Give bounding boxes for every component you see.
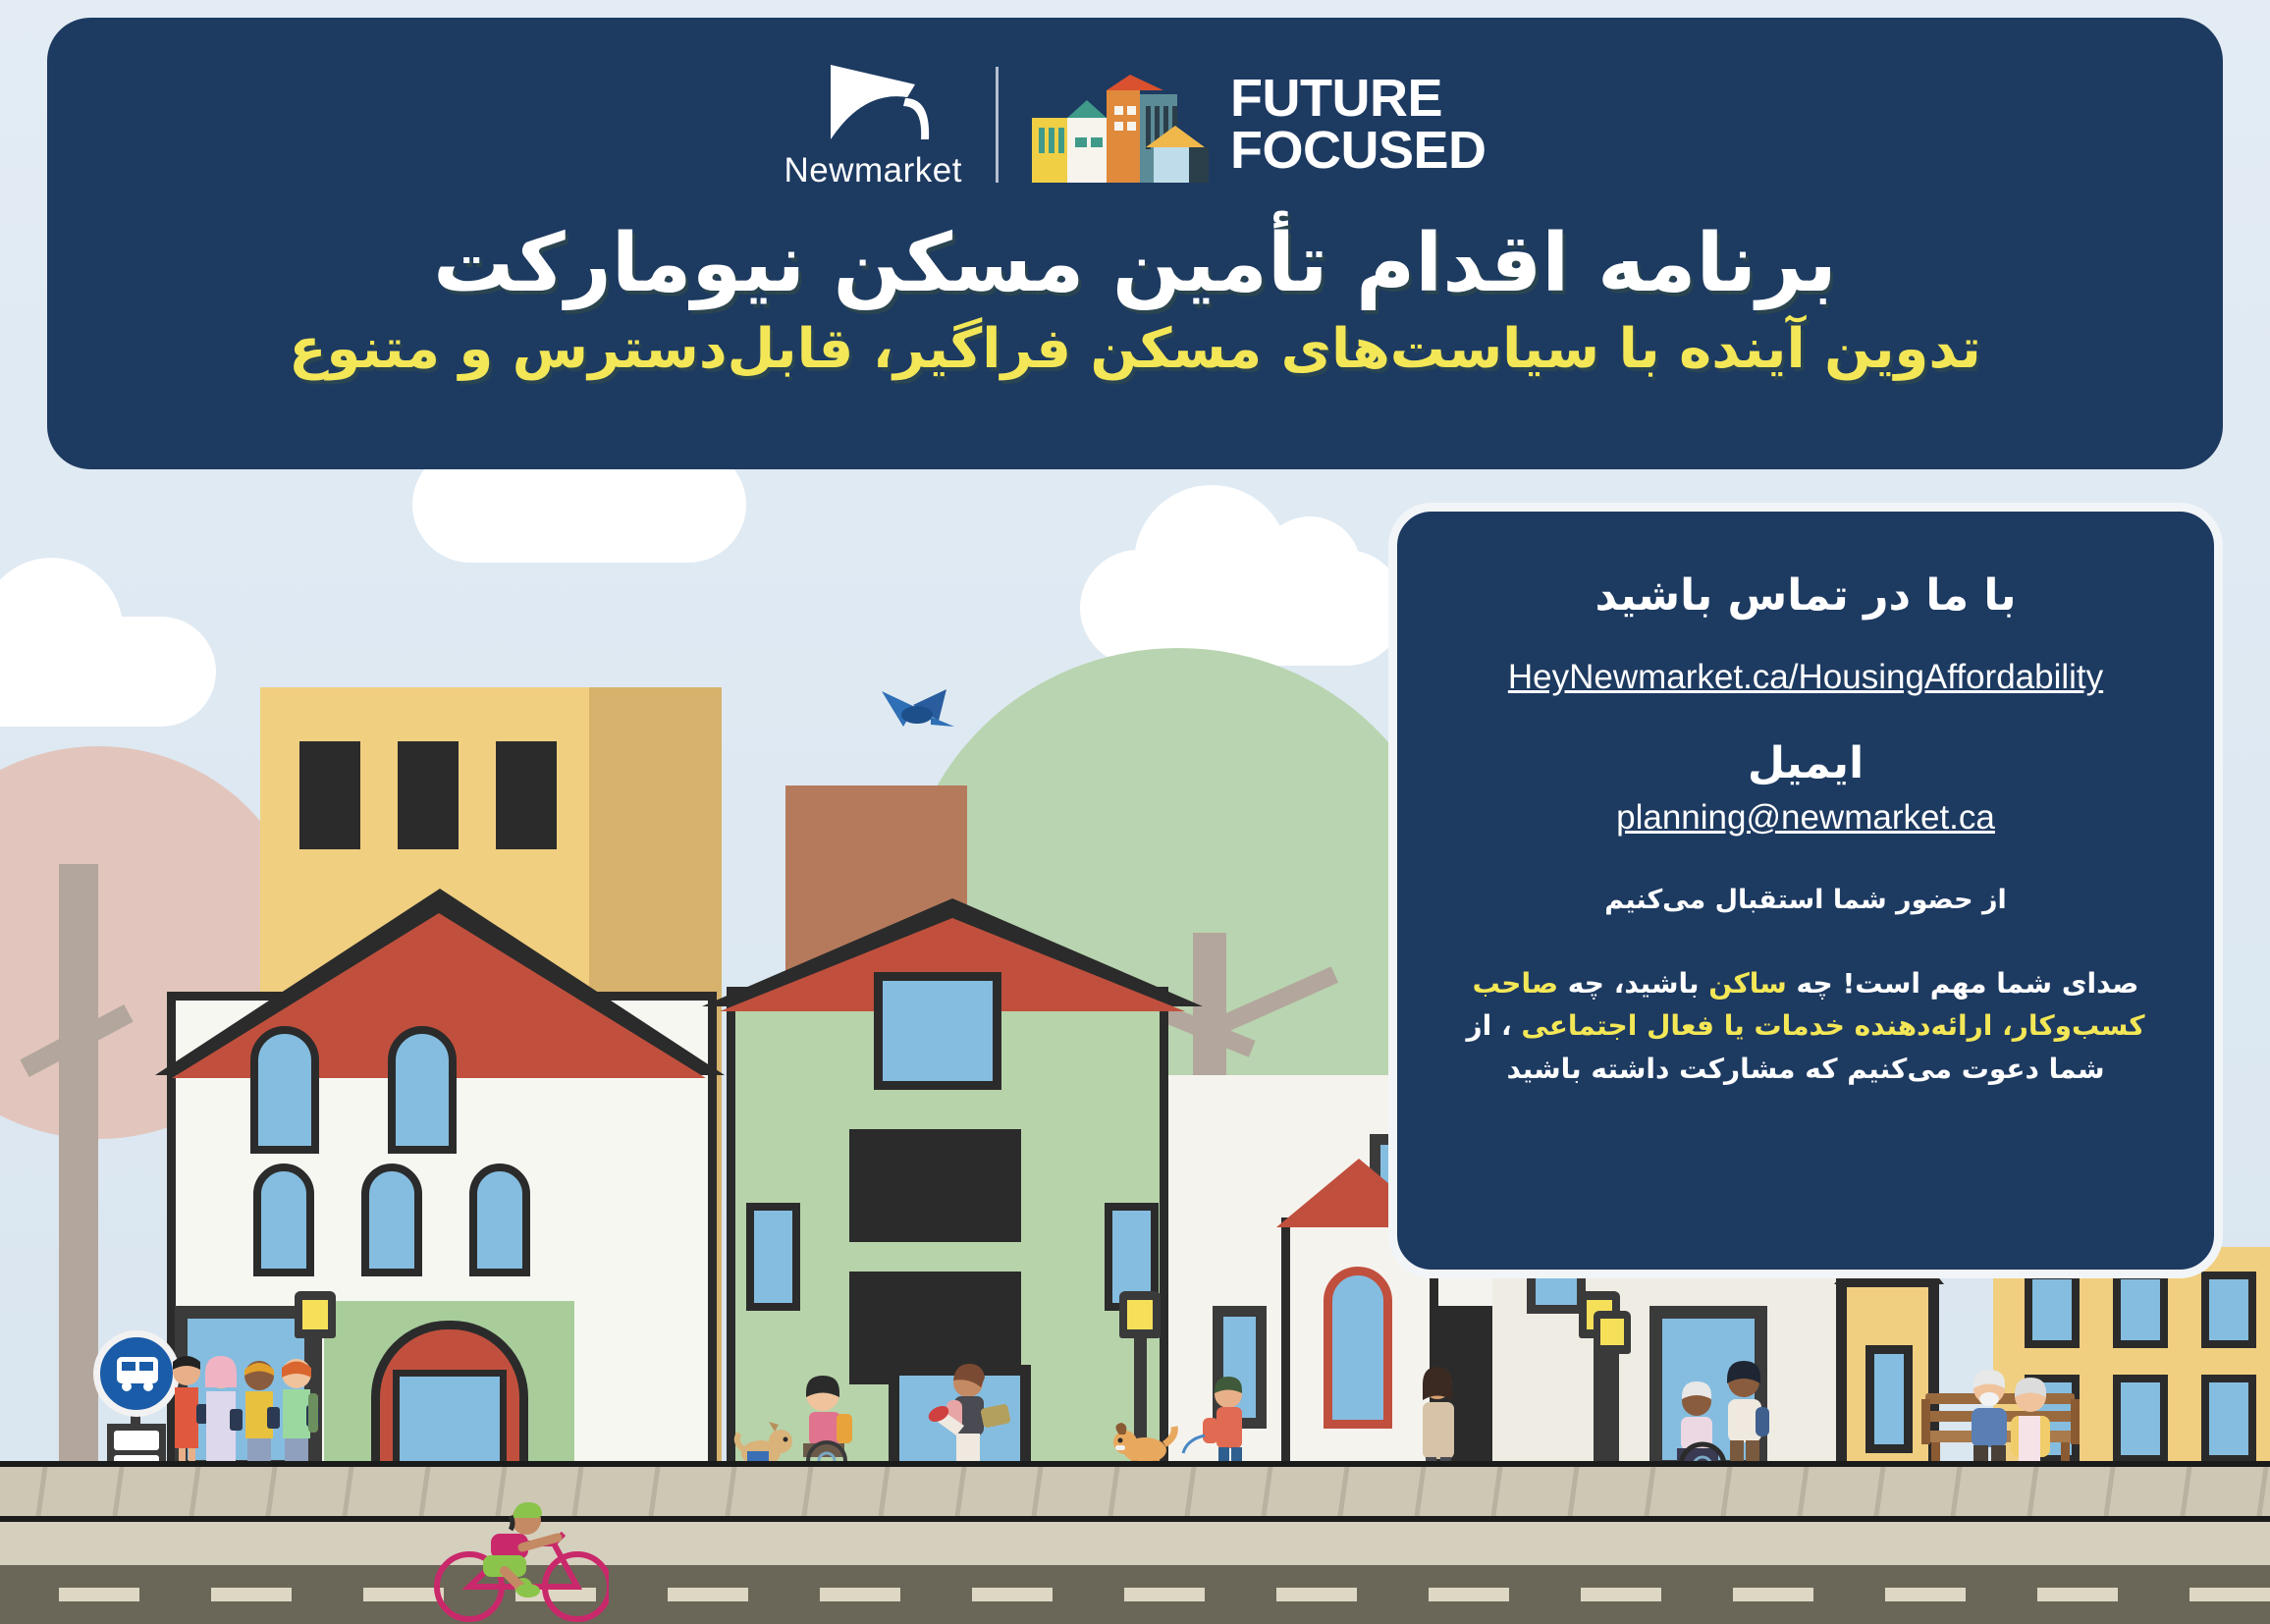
future-focused-line2: FOCUSED [1230, 125, 1486, 177]
invitation-paragraph: صدای شما مهم است! چه ساکن باشید، چه صاحب… [1452, 962, 2159, 1090]
road-dash [2189, 1588, 2270, 1601]
page-title: برنامه اقدام تأمین مسکن نیومارکت [433, 218, 1837, 310]
building-window [361, 1164, 422, 1276]
para-highlight1: ساکن [1708, 967, 1787, 1000]
vertical-divider-icon [996, 67, 999, 183]
road-dash [1733, 1588, 1813, 1601]
road-dash [1429, 1588, 1509, 1601]
building-window [2201, 1272, 2256, 1348]
welcome-text: از حضور شما استقبال می‌کنیم [1452, 885, 2159, 915]
building-window [469, 1164, 530, 1276]
cyclist-icon [432, 1500, 609, 1624]
building-window [746, 1203, 800, 1311]
road-dash [1276, 1588, 1357, 1601]
curb [0, 1522, 2270, 1565]
building-window [1324, 1267, 1392, 1429]
road-dash [211, 1588, 292, 1601]
tree-trunk-icon [59, 864, 98, 1473]
sidewalk [0, 1461, 2270, 1522]
cloud-icon [0, 617, 216, 727]
building-window [849, 1129, 1021, 1242]
road-dash [2037, 1588, 2118, 1601]
road-dash [972, 1588, 1053, 1601]
building-window [2025, 1272, 2080, 1348]
page-subtitle: تدوین آینده با سیاست‌های مسکن فراگیر، قا… [289, 318, 1981, 381]
road-dash [1885, 1588, 1966, 1601]
road-dash [1581, 1588, 1661, 1601]
para-part2: باشید، چه [1558, 967, 1708, 1000]
future-focused-line1: FUTURE [1230, 73, 1486, 125]
storefront-door-glass [393, 1370, 507, 1473]
housing-action-plan-poster: Newmarket [0, 0, 2270, 1624]
contact-heading: با ما در تماس باشید [1452, 570, 2159, 621]
website-link[interactable]: HeyNewmarket.ca/HousingAffordability [1452, 658, 2159, 697]
building-window [1865, 1345, 1913, 1453]
future-focused-logo: FUTURE FOCUSED [1032, 67, 1486, 183]
para-part1: صدای شما مهم است! چه [1787, 967, 2139, 1000]
newmarket-logo: Newmarket [784, 59, 962, 190]
building-window [496, 741, 557, 849]
cloud-icon [1080, 550, 1404, 666]
building-window [299, 741, 360, 849]
building-window [250, 1026, 319, 1154]
email-link[interactable]: planning@newmarket.ca [1452, 798, 2159, 838]
future-focused-buildings-icon [1032, 67, 1209, 183]
building-window [398, 741, 459, 849]
building-window [253, 1164, 314, 1276]
building-window [2201, 1375, 2256, 1463]
header-banner: Newmarket [47, 18, 2223, 469]
road-dash [1124, 1588, 1205, 1601]
road-dash [820, 1588, 900, 1601]
newmarket-sail-icon [809, 59, 937, 149]
road-dash [668, 1588, 748, 1601]
building-window [2113, 1375, 2168, 1463]
building-window [874, 972, 1001, 1090]
newmarket-wordmark: Newmarket [784, 151, 962, 190]
flying-bird-icon [874, 677, 957, 751]
building-window [2113, 1272, 2168, 1348]
logo-row: Newmarket [784, 61, 1486, 189]
road-dash [59, 1588, 139, 1601]
future-focused-text: FUTURE FOCUSED [1230, 73, 1486, 177]
email-label: ایمیل [1452, 738, 2159, 788]
building-window [388, 1026, 457, 1154]
contact-card: با ما در تماس باشید HeyNewmarket.ca/Hous… [1388, 503, 2223, 1278]
